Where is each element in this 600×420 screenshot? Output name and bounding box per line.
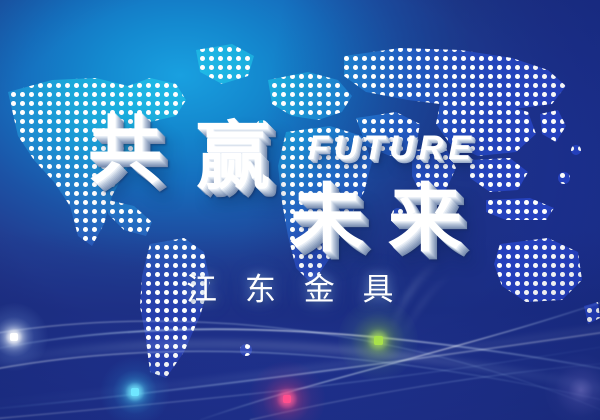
future-wordmark: FUTURE <box>308 131 476 165</box>
headline-char-lai: 来 <box>388 182 462 256</box>
headline-char-ying: 赢 <box>196 120 270 194</box>
company-subtitle: 江 东 金 具 <box>186 275 403 306</box>
promotional-banner: 共 赢 未 来 FUTURE 江 东 金 具 <box>0 0 600 420</box>
headline-block: 共 赢 未 来 FUTURE 江 东 金 具 <box>0 0 600 420</box>
headline-char-gong: 共 <box>88 114 162 188</box>
headline-char-wei: 未 <box>290 182 364 256</box>
